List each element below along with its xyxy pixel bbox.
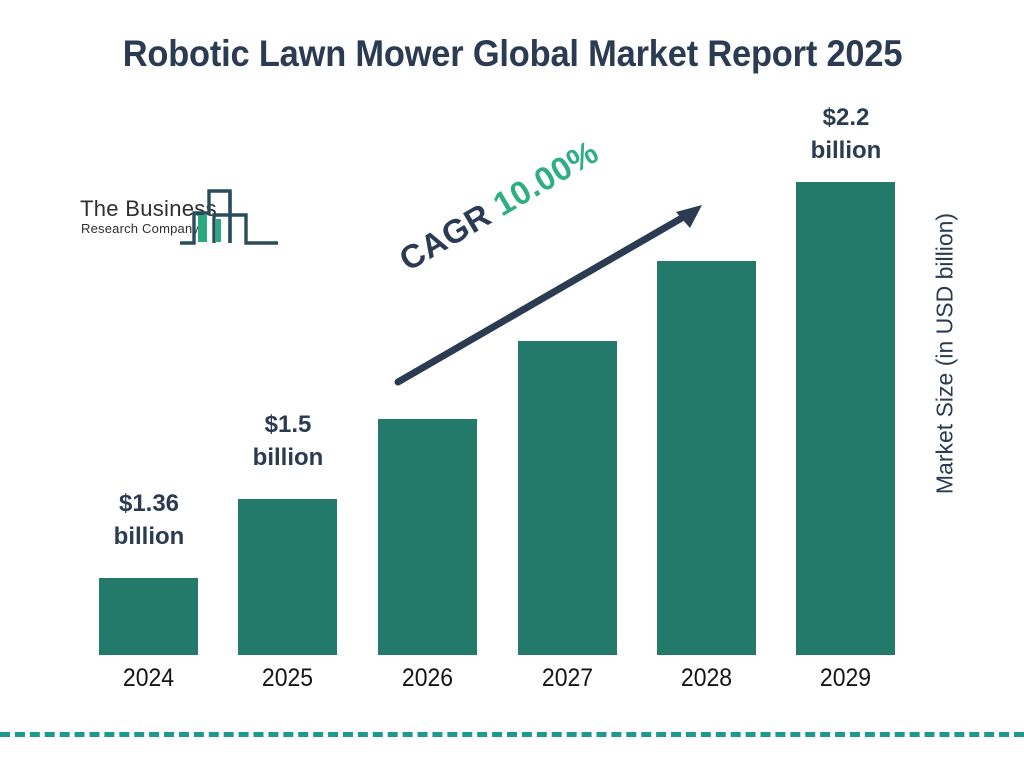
x-tick-label-2026: 2026 <box>373 663 482 693</box>
bar-value-label-2024: $1.36 billion <box>84 487 214 553</box>
x-tick-label-2028: 2028 <box>652 663 761 693</box>
x-tick-label-2029: 2029 <box>791 663 900 693</box>
y-axis-title: Market Size (in USD billion) <box>932 189 959 519</box>
growth-arrow-icon <box>380 190 720 400</box>
x-tick-label-2024: 2024 <box>94 663 203 693</box>
bar-2029[interactable] <box>796 182 895 655</box>
bar-value-unit: billion <box>84 520 214 553</box>
bar-value-amount: $1.5 <box>223 408 353 441</box>
footer-divider <box>0 732 1024 737</box>
bar-value-amount: $1.36 <box>84 487 214 520</box>
x-tick-label-2027: 2027 <box>513 663 622 693</box>
bar-2025[interactable] <box>238 499 337 655</box>
bar-value-amount: $2.2 <box>781 101 911 134</box>
chart-canvas: Robotic Lawn Mower Global Market Report … <box>0 0 1024 768</box>
bar-value-label-2025: $1.5 billion <box>223 408 353 474</box>
bar-2024[interactable] <box>99 578 198 655</box>
x-tick-label-2025: 2025 <box>233 663 342 693</box>
bar-value-label-2029: $2.2 billion <box>781 101 911 167</box>
bar-value-unit: billion <box>781 134 911 167</box>
bar-2026[interactable] <box>378 419 477 655</box>
bar-chart: $1.36 billion $1.5 billion $2.2 billion … <box>0 0 1024 768</box>
bar-value-unit: billion <box>223 441 353 474</box>
